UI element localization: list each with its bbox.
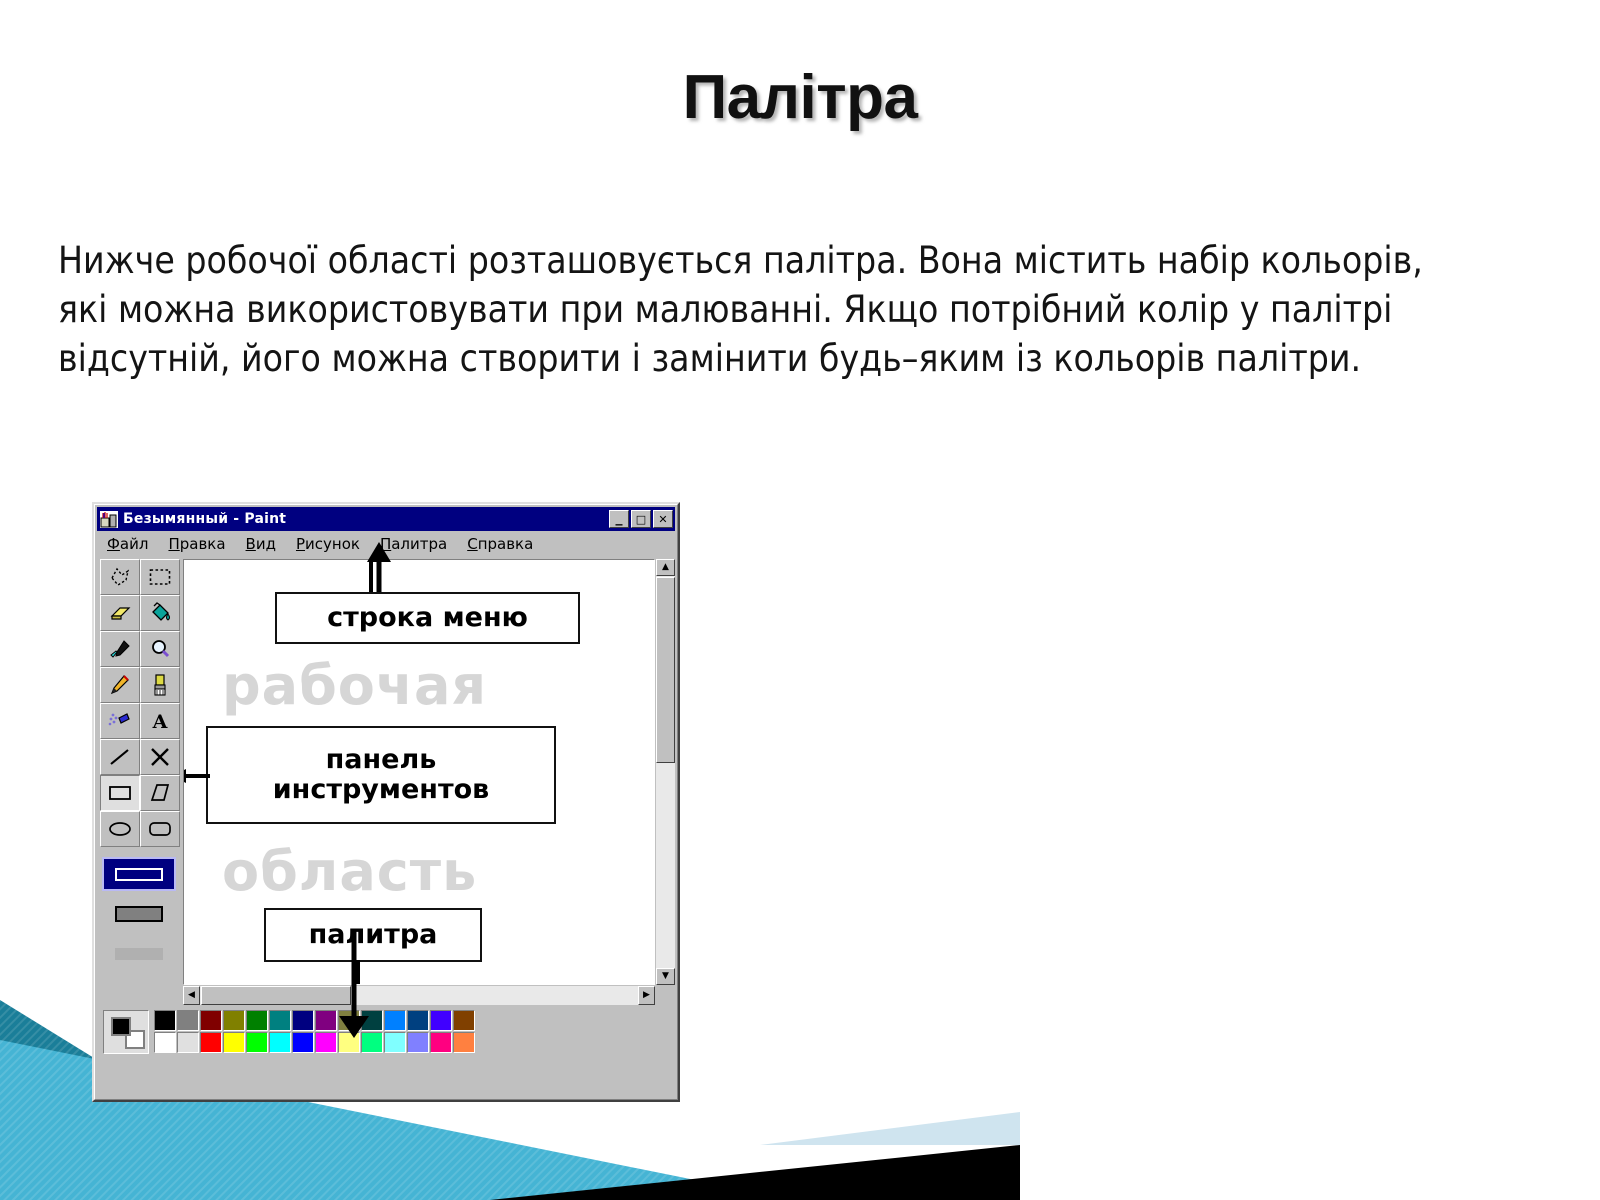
palette-swatch-bottom-10[interactable] <box>384 1032 406 1053</box>
palette-swatch-top-7[interactable] <box>315 1010 337 1031</box>
line-icon <box>107 746 133 768</box>
vertical-scrollbar[interactable]: ▲ ▼ <box>656 559 675 985</box>
menu-item-help[interactable]: Справка <box>467 535 533 553</box>
paint-window[interactable]: Безымянный - Paint _ □ ✕ Файл Правка Вид… <box>92 502 680 1102</box>
callout-toolbox-line: инструментов <box>273 775 489 805</box>
callout-menu-bar: строка меню <box>275 592 580 644</box>
polygon-icon <box>148 782 172 804</box>
callout-palette: палитра <box>264 908 482 962</box>
scroll-right-icon: ▶ <box>643 991 650 1000</box>
minimize-button[interactable]: _ <box>609 510 629 528</box>
tool-options-panel[interactable] <box>102 857 176 971</box>
airbrush-icon <box>107 710 133 732</box>
scroll-up-button[interactable]: ▲ <box>656 559 675 576</box>
tool-grid[interactable]: A <box>100 559 180 847</box>
menu-label-rest: исунок <box>305 535 360 553</box>
palette-grid[interactable] <box>154 1010 476 1054</box>
watermark-oblast: область <box>222 840 477 903</box>
palette-swatch-bottom-12[interactable] <box>430 1032 452 1053</box>
palette-swatch-top-11[interactable] <box>407 1010 429 1031</box>
menu-label-rest: правка <box>478 535 534 553</box>
maximize-icon: □ <box>632 511 650 527</box>
callout-menu-arrowhead <box>366 542 392 592</box>
tool-line[interactable] <box>100 739 140 775</box>
text-icon: A <box>150 710 170 732</box>
scroll-up-icon: ▲ <box>662 563 669 572</box>
tool-option-thin[interactable] <box>102 937 176 971</box>
maximize-button[interactable]: □ <box>631 510 651 528</box>
palette-swatch-bottom-11[interactable] <box>407 1032 429 1053</box>
menu-item-edit[interactable]: Правка <box>168 535 225 553</box>
palette-swatch-top-1[interactable] <box>177 1010 199 1031</box>
tool-color-picker[interactable] <box>100 631 140 667</box>
scroll-right-button[interactable]: ▶ <box>638 986 655 1005</box>
tool-brush[interactable] <box>140 667 180 703</box>
tool-fill-bucket[interactable] <box>140 595 180 631</box>
eraser-icon <box>107 603 133 623</box>
watermark-rabochaya: рабочая <box>222 654 487 717</box>
fill-bucket-icon <box>147 602 173 624</box>
menu-label-rest: ид <box>256 535 276 553</box>
palette-swatch-top-0[interactable] <box>154 1010 176 1031</box>
palette-swatch-top-13[interactable] <box>453 1010 475 1031</box>
palette-swatch-bottom-0[interactable] <box>154 1032 176 1053</box>
palette-swatch-bottom-5[interactable] <box>269 1032 291 1053</box>
menu-item-file[interactable]: Файл <box>107 535 148 553</box>
slide-title: Палітра <box>0 62 1600 133</box>
menu-accesskey: С <box>467 535 477 553</box>
horizontal-scrollbar[interactable]: ◀ ▶ <box>183 986 655 1005</box>
palette-inner[interactable] <box>103 1010 675 1054</box>
palette-swatch-bottom-1[interactable] <box>177 1032 199 1053</box>
curve-icon <box>147 746 173 768</box>
palette-swatch-top-4[interactable] <box>246 1010 268 1031</box>
tool-polygon[interactable] <box>140 775 180 811</box>
color-palette-bar[interactable] <box>97 1005 675 1067</box>
svg-text:A: A <box>152 711 168 732</box>
horizontal-scroll-thumb[interactable] <box>201 986 351 1005</box>
callout-toolbox-line: панель <box>326 745 437 775</box>
palette-swatch-top-10[interactable] <box>384 1010 406 1031</box>
slide-body-text: Нижче робочої області розташовується пал… <box>58 236 1478 383</box>
tool-rectangle[interactable] <box>100 775 140 811</box>
tool-curve[interactable] <box>140 739 180 775</box>
tool-free-form-select[interactable] <box>100 559 140 595</box>
palette-swatch-bottom-3[interactable] <box>223 1032 245 1053</box>
window-client-area: A <box>97 557 675 1005</box>
menu-accesskey: Р <box>296 535 305 553</box>
close-button[interactable]: ✕ <box>653 510 673 528</box>
current-color-indicator[interactable] <box>103 1010 149 1054</box>
minimize-icon: _ <box>610 511 628 527</box>
palette-swatch-bottom-2[interactable] <box>200 1032 222 1053</box>
scroll-left-button[interactable]: ◀ <box>183 986 200 1005</box>
close-icon: ✕ <box>654 511 672 527</box>
palette-swatch-top-5[interactable] <box>269 1010 291 1031</box>
callout-toolbox: панельинструментов <box>206 726 556 824</box>
tool-rectangular-select[interactable] <box>140 559 180 595</box>
scrollbar-corner <box>656 986 675 1005</box>
foreground-color-swatch[interactable] <box>111 1017 131 1036</box>
palette-swatch-bottom-4[interactable] <box>246 1032 268 1053</box>
scroll-left-icon: ◀ <box>188 991 195 1000</box>
palette-swatch-top-3[interactable] <box>223 1010 245 1031</box>
palette-swatch-top-2[interactable] <box>200 1010 222 1031</box>
color-picker-icon <box>108 638 132 660</box>
canvas-area: рабочая область строка меню панельинстру… <box>181 557 675 1005</box>
menu-accesskey: Ф <box>107 535 120 553</box>
callout-palette-arrowhead <box>336 930 372 1042</box>
tool-rounded-rectangle[interactable] <box>140 811 180 847</box>
tool-pencil[interactable] <box>100 667 140 703</box>
pencil-icon <box>108 674 132 696</box>
brush-icon <box>149 673 171 697</box>
palette-row-top[interactable] <box>154 1010 476 1032</box>
window-title-bar[interactable]: Безымянный - Paint _ □ ✕ <box>97 507 675 531</box>
palette-row-bottom[interactable] <box>154 1032 476 1054</box>
menu-item-image[interactable]: Рисунок <box>296 535 360 553</box>
palette-swatch-bottom-13[interactable] <box>453 1032 475 1053</box>
window-inner-frame: Безымянный - Paint _ □ ✕ Файл Правка Вид… <box>94 504 678 1100</box>
menu-label-rest: алитра <box>391 535 447 553</box>
rounded-rectangle-icon <box>147 819 173 839</box>
rectangular-select-icon <box>148 567 172 587</box>
palette-swatch-top-6[interactable] <box>292 1010 314 1031</box>
paint-app-icon <box>100 511 118 528</box>
tool-option-thick[interactable] <box>102 857 176 891</box>
window-title-text: Безымянный - Paint <box>123 511 607 527</box>
menu-label-rest: равка <box>180 535 226 553</box>
drawing-canvas[interactable]: рабочая область строка меню панельинстру… <box>183 559 655 985</box>
scroll-down-icon: ▼ <box>662 972 669 981</box>
tool-box[interactable]: A <box>97 557 181 1005</box>
palette-swatch-top-12[interactable] <box>430 1010 452 1031</box>
tool-option-medium[interactable] <box>102 897 176 931</box>
free-form-select-icon <box>108 566 132 588</box>
palette-swatch-bottom-6[interactable] <box>292 1032 314 1053</box>
tool-magnifier[interactable] <box>140 631 180 667</box>
magnifier-icon <box>148 638 172 660</box>
menu-item-view[interactable]: Вид <box>246 535 276 553</box>
ellipse-icon <box>107 819 133 839</box>
palette-swatch-bottom-7[interactable] <box>315 1032 337 1053</box>
callout-toolbox-arrow <box>183 766 212 786</box>
scroll-down-button[interactable]: ▼ <box>656 968 675 985</box>
menu-label-rest: айл <box>120 535 149 553</box>
tool-ellipse[interactable] <box>100 811 140 847</box>
tool-text[interactable]: A <box>140 703 180 739</box>
menu-accesskey: П <box>168 535 179 553</box>
tool-airbrush[interactable] <box>100 703 140 739</box>
tool-eraser[interactable] <box>100 595 140 631</box>
vertical-scroll-thumb[interactable] <box>656 577 675 763</box>
rectangle-icon <box>107 783 133 803</box>
menu-accesskey: В <box>246 535 256 553</box>
